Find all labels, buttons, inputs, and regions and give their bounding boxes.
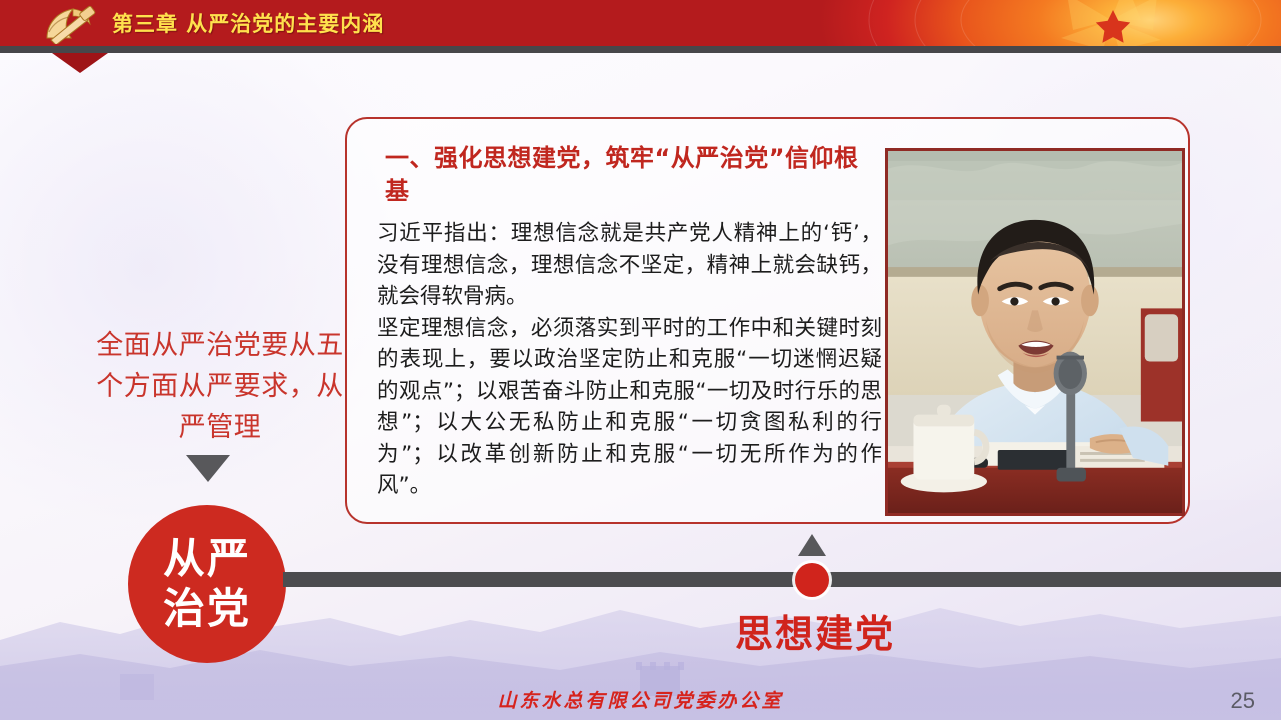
from-strict-party-circle[interactable]: 从严 治党 (128, 505, 286, 663)
left-headline: 全面从严治党要从五个方面从严要求，从严管理 (95, 325, 345, 448)
card-paragraph-2: 坚定理想信念，必须落实到平时的工作中和关键时刻的表现上，要以政治坚定防止和克服“… (377, 313, 882, 502)
red-star-icon (1096, 10, 1130, 43)
timeline-bar (283, 572, 1281, 587)
header-ribbon-tab-icon (52, 53, 108, 73)
page-number: 25 (1231, 688, 1255, 714)
card-body: 习近平指出：理想信念就是共产党人精神上的‘钙’，没有理想信念，理想信念不坚定，精… (377, 218, 882, 502)
card-paragraph-1: 习近平指出：理想信念就是共产党人精神上的‘钙’，没有理想信念，理想信念不坚定，精… (377, 218, 882, 313)
header-title: 第三章 从严治党的主要内涵 (112, 8, 384, 38)
triangle-up-icon (798, 534, 826, 556)
triangle-down-icon (186, 455, 230, 482)
header-bottom-strip (0, 46, 1281, 53)
hammer-and-sickle-emblem (37, 2, 103, 44)
slide-header-bar: 第三章 从严治党的主要内涵 (0, 0, 1281, 46)
circle-label-line1: 从严 (163, 534, 251, 584)
xi-jinping-speech-photo (885, 148, 1185, 516)
timeline-marker-dot[interactable] (795, 563, 829, 597)
card-title: 一、强化思想建党，筑牢“从严治党”信仰根基 (385, 142, 875, 208)
timeline-label: 思想建党 (660, 603, 970, 658)
footer-organization: 山东水总有限公司党委办公室 (0, 686, 1281, 713)
header-glow-rings-decoration (861, 0, 1281, 46)
slide-canvas: 第三章 从严治党的主要内涵 全面从严治党要从五个方面从严要求，从严管理 从严 治… (0, 0, 1281, 720)
circle-label-line2: 治党 (163, 584, 251, 634)
